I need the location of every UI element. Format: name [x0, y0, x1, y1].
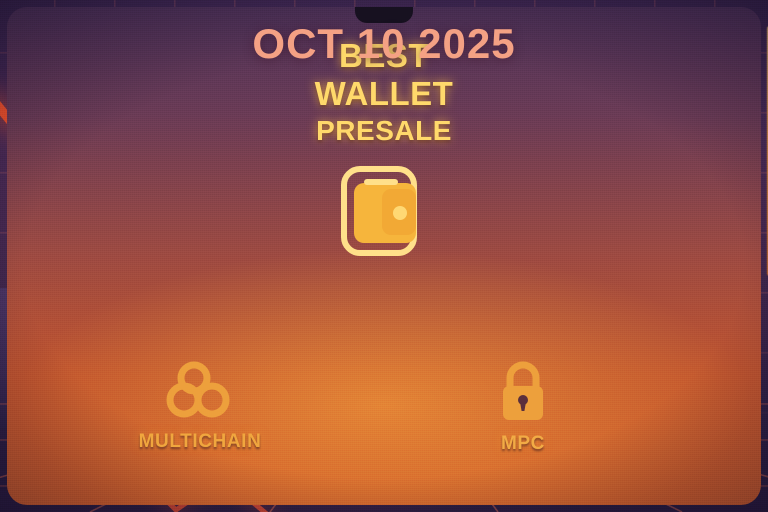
date-headline: OCT 10 2025: [0, 20, 768, 68]
feature-multichain-label: MULTICHAIN: [120, 431, 280, 453]
headline-line-3: PRESALE: [7, 117, 761, 145]
feature-mpc-label: MPC: [448, 433, 598, 455]
promo-banner: MULTICHAIN MPC BEST WALLET PRESALE: [0, 0, 768, 512]
padlock-icon: [492, 358, 554, 424]
wallet-icon: [336, 159, 432, 263]
feature-mpc[interactable]: MPC: [448, 358, 598, 455]
headline-line-2: WALLET: [7, 77, 761, 110]
linked-rings-icon: [164, 360, 236, 422]
feature-multichain[interactable]: MULTICHAIN: [120, 360, 280, 453]
